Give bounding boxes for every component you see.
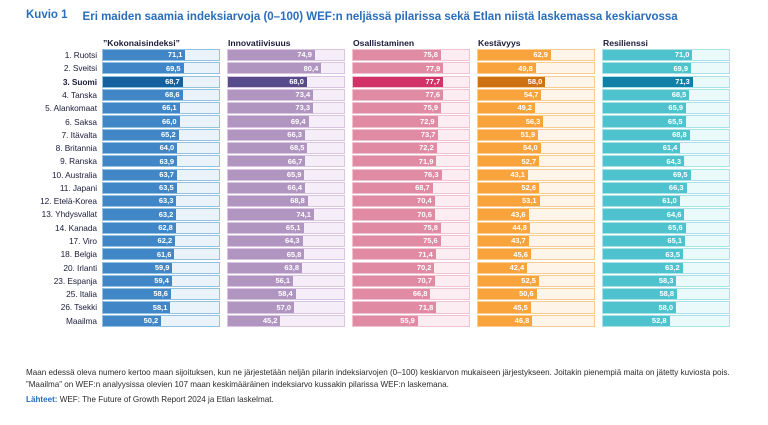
bar-track: 57,0 [227,301,345,313]
bar-track: 54,7 [477,89,595,101]
bar-value-label: 71,8 [419,304,437,312]
bar-value-label: 61,0 [662,197,680,205]
bar-track: 51,9 [477,129,595,141]
bar-cell: 65,8 [227,248,352,260]
bar-value-label: 73,4 [296,91,314,99]
bar-value-label: 61,6 [157,251,175,259]
bar-fill: 68,5 [603,90,689,100]
bar-cell: 72,9 [352,115,477,127]
bar-fill: 63,7 [103,170,177,180]
bar-fill: 62,9 [478,50,551,60]
bar-cell: 63,7 [102,169,227,181]
row-label-country: 12. Etelä-Korea [0,196,102,206]
bar-track: 75,8 [352,49,470,61]
bar-value-label: 80,4 [304,65,322,73]
bar-cell: 75,8 [352,49,477,61]
bar-track: 62,8 [102,222,220,234]
bar-cell: 69,5 [602,169,737,181]
bar-cell: 42,4 [477,262,602,274]
bar-value-label: 63,5 [159,184,177,192]
bar-cell: 43,1 [477,169,602,181]
bar-value-label: 43,7 [511,237,529,245]
bar-cell: 64,3 [602,155,737,167]
bar-fill: 63,2 [603,263,683,273]
bar-track: 58,0 [477,76,595,88]
bar-fill: 63,5 [103,183,177,193]
bar-cell: 68,8 [227,195,352,207]
bar-track: 62,9 [477,49,595,61]
bar-cell: 71,8 [352,301,477,313]
bar-value-label: 68,8 [672,131,690,139]
bar-value-label: 71,1 [168,51,186,59]
bar-value-label: 54,0 [523,144,541,152]
bar-cell: 70,2 [352,262,477,274]
bar-track: 71,1 [102,49,220,61]
bar-cell: 80,4 [227,62,352,74]
bar-track: 64,3 [227,235,345,247]
bar-fill: 45,2 [228,316,280,326]
bar-fill: 71,9 [353,156,436,166]
bar-value-label: 46,8 [515,317,533,325]
row-label-country: 6. Saksa [0,117,102,127]
bar-value-label: 63,5 [665,251,683,259]
bar-cell: 52,8 [602,315,737,327]
bar-cell: 58,3 [602,275,737,287]
bar-track: 68,0 [227,76,345,88]
bar-fill: 72,2 [353,143,437,153]
bar-cell: 75,9 [352,102,477,114]
bar-value-label: 64,6 [667,211,685,219]
bar-value-label: 71,4 [418,251,436,259]
bar-cell: 68,7 [102,76,227,88]
bar-fill: 65,6 [603,223,686,233]
bar-track: 49,2 [477,102,595,114]
table-row: 4. Tanska68,673,477,654,768,5 [0,89,754,101]
bar-track: 68,7 [352,182,470,194]
bar-track: 72,2 [352,142,470,154]
bar-fill: 63,8 [228,263,302,273]
bar-value-label: 56,3 [526,118,544,126]
bar-value-label: 58,0 [528,78,546,86]
bar-cell: 68,5 [227,142,352,154]
bar-track: 68,5 [227,142,345,154]
bar-fill: 58,8 [603,289,677,299]
bar-track: 49,8 [477,62,595,74]
bar-fill: 68,6 [103,90,183,100]
bar-value-label: 50,6 [519,290,537,298]
bar-value-label: 58,3 [659,277,677,285]
bar-track: 72,9 [352,115,470,127]
bar-track: 44,8 [477,222,595,234]
bar-value-label: 68,0 [289,78,307,86]
bar-track: 75,8 [352,222,470,234]
table-row: 1. Ruotsi71,174,975,862,971,0 [0,49,754,61]
bar-fill: 70,2 [353,263,434,273]
bar-fill: 49,8 [478,63,536,73]
bar-track: 63,8 [227,262,345,274]
bar-value-label: 65,9 [668,104,686,112]
bar-value-label: 70,4 [417,197,435,205]
bar-track: 58,8 [602,288,730,300]
bar-fill: 66,4 [228,183,305,193]
bar-cell: 65,1 [602,235,737,247]
bar-track: 46,8 [477,315,595,327]
bar-value-label: 71,0 [675,51,693,59]
bar-cell: 58,4 [227,288,352,300]
bar-track: 68,8 [602,129,730,141]
bar-value-label: 58,8 [659,290,677,298]
bar-fill: 43,6 [478,209,529,219]
bar-cell: 58,0 [477,76,602,88]
table-row: 2. Sveitsi69,580,477,949,869,9 [0,62,754,74]
bar-fill: 75,8 [353,50,441,60]
bar-fill: 71,8 [353,302,436,312]
bar-track: 71,4 [352,248,470,260]
bar-value-label: 68,7 [415,184,433,192]
bar-fill: 75,6 [353,236,441,246]
bar-cell: 64,0 [102,142,227,154]
bar-value-label: 69,4 [291,118,309,126]
bar-track: 69,4 [227,115,345,127]
bar-value-label: 65,2 [161,131,179,139]
bar-value-label: 73,3 [295,104,313,112]
bar-track: 66,7 [227,155,345,167]
bar-track: 69,5 [602,169,730,181]
bar-cell: 63,9 [102,155,227,167]
bar-cell: 49,2 [477,102,602,114]
bar-fill: 43,1 [478,170,528,180]
bar-track: 65,2 [102,129,220,141]
bar-track: 63,5 [102,182,220,194]
bar-fill: 68,0 [228,77,307,87]
bar-track: 70,6 [352,208,470,220]
bar-cell: 66,7 [227,155,352,167]
row-label-country: 8. Britannia [0,143,102,153]
bar-value-label: 51,9 [521,131,539,139]
bar-track: 53,1 [477,195,595,207]
table-row: 10. Australia63,765,976,343,169,5 [0,169,754,181]
bar-value-label: 63,2 [665,264,683,272]
bar-cell: 66,1 [102,102,227,114]
bar-cell: 70,7 [352,275,477,287]
bar-track: 56,1 [227,275,345,287]
bar-fill: 65,9 [228,170,304,180]
bar-cell: 57,0 [227,301,352,313]
bar-cell: 54,0 [477,142,602,154]
bar-value-label: 71,9 [419,158,437,166]
bar-value-label: 52,5 [521,277,539,285]
bar-cell: 50,6 [477,288,602,300]
bar-fill: 69,4 [228,116,309,126]
bar-fill: 80,4 [228,63,321,73]
bar-cell: 63,5 [102,182,227,194]
bar-track: 64,3 [602,155,730,167]
bar-cell: 69,4 [227,115,352,127]
bar-fill: 64,0 [103,143,177,153]
bar-fill: 64,3 [228,236,303,246]
column-header-5: Resilienssi [602,38,737,48]
bar-value-label: 69,5 [673,171,691,179]
row-label-country: 18. Belgia [0,249,102,259]
bar-cell: 70,4 [352,195,477,207]
bar-track: 65,5 [602,115,730,127]
bar-track: 65,1 [227,222,345,234]
bar-cell: 66,8 [352,288,477,300]
bar-cell: 58,8 [602,288,737,300]
bar-track: 61,4 [602,142,730,154]
bar-fill: 58,3 [603,276,676,286]
bar-value-label: 72,2 [419,144,437,152]
bar-track: 66,1 [102,102,220,114]
row-label-country: Maailma [0,316,102,326]
bar-value-label: 43,6 [511,211,529,219]
bar-fill: 66,3 [228,130,305,140]
bar-cell: 65,6 [602,222,737,234]
bar-cell: 56,1 [227,275,352,287]
bar-cell: 74,9 [227,49,352,61]
bar-fill: 59,9 [103,263,172,273]
bar-fill: 71,3 [603,77,693,87]
bar-track: 66,3 [602,182,730,194]
bar-track: 64,6 [602,208,730,220]
row-label-country: 1. Ruotsi [0,50,102,60]
row-label-country: 20. Irlanti [0,263,102,273]
bar-fill: 68,7 [103,77,183,87]
bar-cell: 54,7 [477,89,602,101]
table-row: 18. Belgia61,665,871,445,663,5 [0,248,754,260]
bar-value-label: 66,4 [287,184,305,192]
bar-fill: 69,9 [603,63,691,73]
table-row: 7. Itävalta65,266,373,751,968,8 [0,129,754,141]
footnote-note: Maan edessä oleva numero kertoo maan sij… [26,367,748,391]
bar-fill: 46,8 [478,316,532,326]
bar-value-label: 74,1 [296,211,314,219]
bar-track: 77,7 [352,76,470,88]
bar-track: 43,6 [477,208,595,220]
bar-track: 65,1 [602,235,730,247]
bar-value-label: 66,3 [669,184,687,192]
bar-value-label: 55,9 [400,317,418,325]
bar-fill: 66,7 [228,156,305,166]
bar-cell: 62,8 [102,222,227,234]
bar-cell: 71,4 [352,248,477,260]
bar-value-label: 49,8 [518,65,536,73]
bar-track: 59,4 [102,275,220,287]
bar-cell: 43,7 [477,235,602,247]
bar-cell: 66,3 [227,129,352,141]
bar-cell: 63,2 [102,208,227,220]
bar-value-label: 62,2 [158,237,176,245]
bar-value-label: 59,9 [155,264,173,272]
bar-fill: 68,7 [353,183,433,193]
bar-value-label: 66,0 [162,118,180,126]
bar-value-label: 72,9 [420,118,438,126]
bar-track: 68,7 [102,76,220,88]
bar-cell: 65,1 [227,222,352,234]
bar-value-label: 66,7 [288,158,306,166]
bar-track: 62,2 [102,235,220,247]
bar-cell: 49,8 [477,62,602,74]
bar-fill: 65,5 [603,116,686,126]
bar-fill: 58,4 [228,289,296,299]
bar-track: 77,9 [352,62,470,74]
bar-track: 68,8 [227,195,345,207]
bar-fill: 63,2 [103,209,176,219]
bar-track: 58,4 [227,288,345,300]
bar-track: 58,3 [602,275,730,287]
bar-value-label: 68,8 [290,197,308,205]
bar-track: 54,0 [477,142,595,154]
bar-cell: 71,9 [352,155,477,167]
bar-cell: 58,1 [102,301,227,313]
bar-fill: 61,6 [103,249,174,259]
bar-track: 76,3 [352,169,470,181]
bar-cell: 52,7 [477,155,602,167]
bar-value-label: 65,8 [287,251,305,259]
bar-fill: 73,4 [228,90,313,100]
table-row: 12. Etelä-Korea63,368,870,453,161,0 [0,195,754,207]
bar-fill: 45,6 [478,249,531,259]
bar-track: 74,1 [227,208,345,220]
bar-fill: 61,0 [603,196,680,206]
bar-cell: 75,8 [352,222,477,234]
bar-value-label: 58,1 [153,304,171,312]
sources-line: Lähteet: WEF: The Future of Growth Repor… [26,394,748,406]
row-label-country: 2. Sveitsi [0,63,102,73]
bar-fill: 52,6 [478,183,539,193]
bar-value-label: 43,1 [510,171,528,179]
bar-fill: 55,9 [353,316,418,326]
bar-track: 68,6 [102,89,220,101]
bar-track: 63,9 [102,155,220,167]
row-label-country: 26. Tsekki [0,302,102,312]
bar-cell: 63,3 [102,195,227,207]
bar-track: 56,3 [477,115,595,127]
bar-track: 77,6 [352,89,470,101]
bar-cell: 66,0 [102,115,227,127]
bar-cell: 52,5 [477,275,602,287]
bar-cell: 45,5 [477,301,602,313]
bar-value-label: 42,4 [510,264,528,272]
bar-value-label: 54,7 [524,91,542,99]
bar-cell: 59,4 [102,275,227,287]
bar-value-label: 52,8 [652,317,670,325]
row-label-country: 14. Kanada [0,223,102,233]
bar-cell: 44,8 [477,222,602,234]
bar-cell: 51,9 [477,129,602,141]
bar-fill: 77,7 [353,77,443,87]
bar-track: 66,0 [102,115,220,127]
bar-value-label: 63,7 [159,171,177,179]
bar-fill: 68,5 [228,143,307,153]
bar-track: 69,9 [602,62,730,74]
bar-track: 69,5 [102,62,220,74]
table-row: 5. Alankomaat66,173,375,949,265,9 [0,102,754,114]
bar-track: 63,5 [602,248,730,260]
table-row: 20. Irlanti59,963,870,242,463,2 [0,262,754,274]
row-label-country: 9. Ranska [0,156,102,166]
bar-value-label: 63,2 [159,211,177,219]
bar-fill: 45,5 [478,302,531,312]
bar-track: 63,3 [102,195,220,207]
bar-track: 73,4 [227,89,345,101]
bar-cell: 73,3 [227,102,352,114]
bar-fill: 42,4 [478,263,527,273]
bar-fill: 52,7 [478,156,539,166]
bar-track: 80,4 [227,62,345,74]
bar-cell: 75,6 [352,235,477,247]
bar-fill: 56,3 [478,116,543,126]
bar-track: 70,4 [352,195,470,207]
bar-fill: 63,5 [603,249,683,259]
bar-cell: 45,2 [227,315,352,327]
bar-value-label: 58,6 [153,290,171,298]
bar-track: 50,2 [102,315,220,327]
bar-track: 64,0 [102,142,220,154]
bar-value-label: 70,2 [417,264,435,272]
bar-track: 70,7 [352,275,470,287]
bar-fill: 68,8 [228,196,308,206]
bar-fill: 53,1 [478,196,540,206]
bar-value-label: 65,6 [668,224,686,232]
bar-cell: 77,9 [352,62,477,74]
bar-value-label: 45,5 [513,304,531,312]
bar-value-label: 69,9 [673,65,691,73]
table-row: 23. Espanja59,456,170,752,558,3 [0,275,754,287]
bar-fill: 73,3 [228,103,313,113]
bar-cell: 62,9 [477,49,602,61]
bar-value-label: 45,6 [513,251,531,259]
row-label-country: 17. Viro [0,236,102,246]
bar-cell: 68,6 [102,89,227,101]
bar-value-label: 57,0 [277,304,295,312]
bar-track: 58,6 [102,288,220,300]
bar-value-label: 56,1 [275,277,293,285]
bar-cell: 61,0 [602,195,737,207]
bar-track: 71,0 [602,49,730,61]
bar-fill: 43,7 [478,236,529,246]
table-row: 6. Saksa66,069,472,956,365,5 [0,115,754,127]
bar-value-label: 76,3 [424,171,442,179]
bar-fill: 59,4 [103,276,172,286]
bar-cell: 63,5 [602,248,737,260]
table-row: 9. Ranska63,966,771,952,764,3 [0,155,754,167]
bar-cell: 69,9 [602,62,737,74]
bar-fill: 50,6 [478,289,537,299]
row-label-country: 7. Itävalta [0,130,102,140]
bar-fill: 74,9 [228,50,315,60]
bar-fill: 64,6 [603,209,684,219]
bar-value-label: 74,9 [297,51,315,59]
bar-track: 65,8 [227,248,345,260]
bar-track: 63,7 [102,169,220,181]
column-header-3: Osallistaminen [352,38,477,48]
bar-track: 61,6 [102,248,220,260]
bar-value-label: 63,9 [160,158,178,166]
table-row: 11. Japani63,566,468,752,666,3 [0,182,754,194]
bar-value-label: 65,5 [668,118,686,126]
bar-value-label: 64,3 [666,158,684,166]
bar-cell: 73,7 [352,129,477,141]
bar-value-label: 66,8 [413,290,431,298]
bar-track: 63,2 [602,262,730,274]
bar-fill: 52,8 [603,316,670,326]
bar-value-label: 59,4 [154,277,172,285]
bar-cell: 63,8 [227,262,352,274]
bar-fill: 70,4 [353,196,435,206]
bar-fill: 76,3 [353,170,442,180]
bar-fill: 65,9 [603,103,686,113]
